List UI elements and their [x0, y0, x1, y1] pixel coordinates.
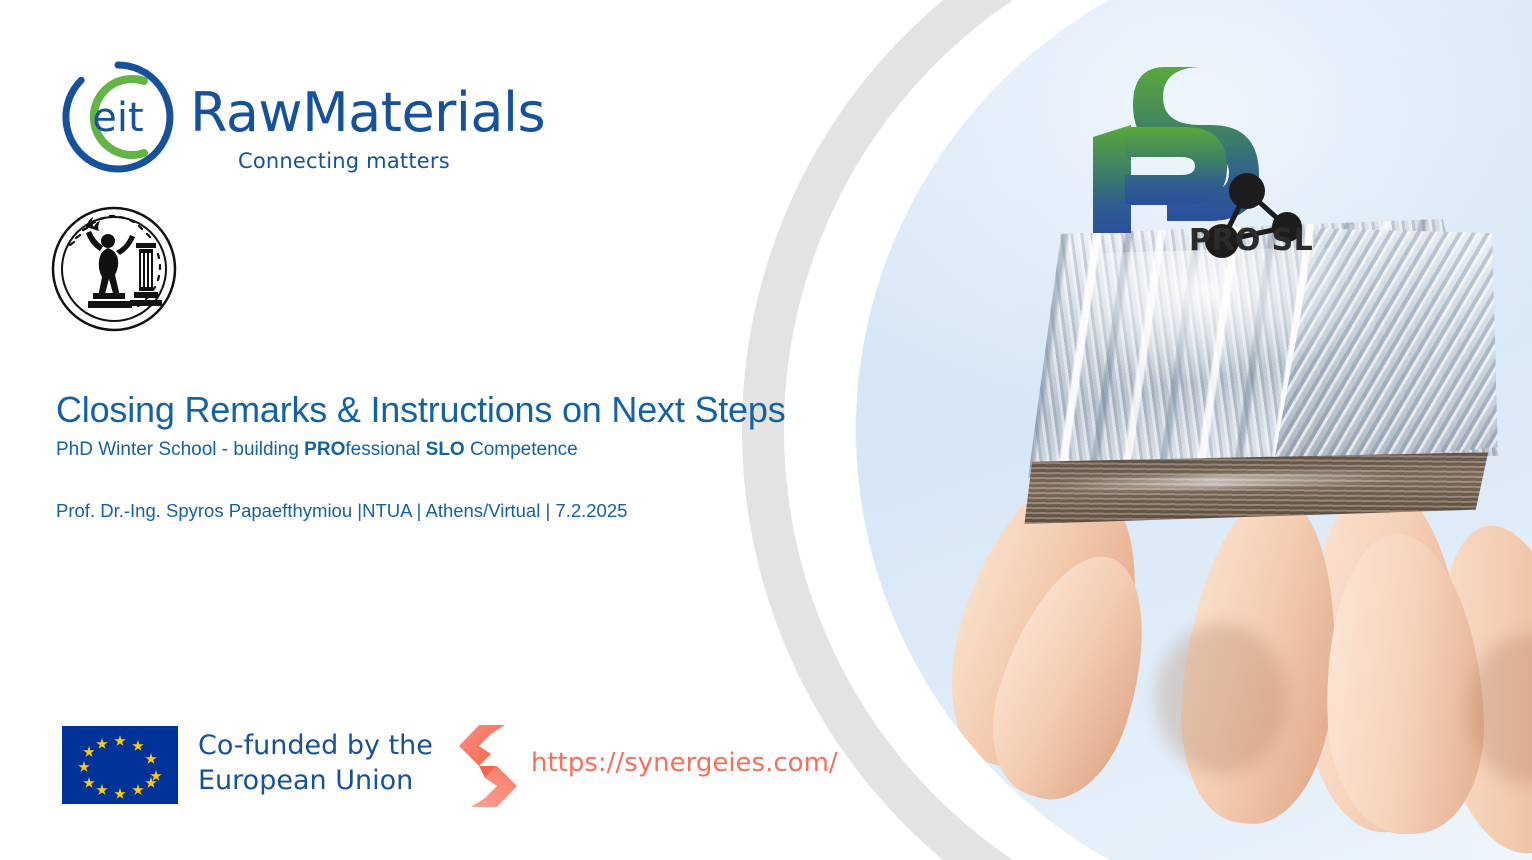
subtitle-bold-pro: PRO — [304, 439, 345, 460]
eit-wordmark: RawMaterials — [190, 81, 545, 144]
thumb — [926, 457, 1170, 792]
subtitle-after: Competence — [465, 439, 578, 460]
eu-funding-text: Co-funded by the European Union — [198, 728, 433, 798]
eu-flag-icon — [62, 726, 178, 804]
eit-circle-mark: eit — [58, 57, 178, 177]
svg-text:eit: eit — [92, 95, 143, 141]
finger-shadow — [1468, 634, 1532, 784]
presentation-slide: PRO SL eit RawMaterials Connecting matte… — [0, 0, 1532, 860]
finger-shadow — [1156, 624, 1286, 774]
eu-funding-logo: Co-funded by the European Union — [62, 726, 422, 804]
title-block: Closing Remarks & Instructions on Next S… — [56, 388, 796, 463]
subtitle-mid: fessional — [345, 439, 425, 460]
finger — [1298, 479, 1472, 834]
page-subtitle: PhD Winter School - building PROfessiona… — [56, 437, 796, 463]
proslo-wordmark: PRO SL — [1189, 223, 1313, 258]
synergeies-s-icon — [455, 722, 521, 810]
ntua-seal — [50, 205, 178, 333]
eu-funding-line2: European Union — [198, 763, 433, 798]
presenter-byline: Prof. Dr.-Ing. Spyros Papaefthymiou |NTU… — [56, 498, 627, 524]
subtitle-bold-slo: SLO — [426, 439, 465, 460]
subtitle-before: PhD Winter School - building — [56, 439, 304, 460]
page-title: Closing Remarks & Instructions on Next S… — [56, 388, 796, 432]
specimen-base — [1023, 450, 1490, 524]
finger — [1413, 514, 1532, 860]
fingertip — [1318, 530, 1489, 838]
eu-funding-line1: Co-funded by the — [198, 728, 433, 763]
synergeies-url[interactable]: https://synergeies.com/ — [531, 748, 838, 778]
specimen-base-highlight — [1058, 470, 1401, 492]
ntua-seal-mark — [50, 205, 178, 333]
eit-rawmaterials-logo: eit RawMaterials Connecting matters — [58, 57, 528, 182]
proslo-logo: PRO SL — [1075, 45, 1325, 280]
finger — [1169, 487, 1353, 831]
fingertip — [971, 538, 1174, 817]
eit-tagline: Connecting matters — [238, 149, 450, 173]
synergeies-logo: https://synergeies.com/ — [455, 722, 795, 810]
